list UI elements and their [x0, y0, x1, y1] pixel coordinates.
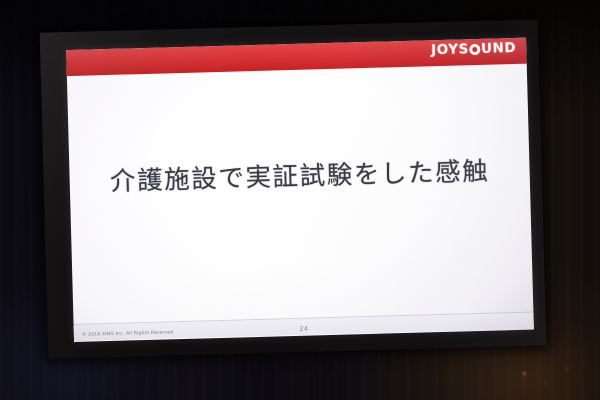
light-speck: [523, 372, 526, 375]
light-speck: [566, 368, 568, 370]
joysound-logo: JOYS UND: [431, 42, 517, 58]
logo-text-right: UND: [481, 42, 517, 56]
presentation-slide: JOYS UND 介護施設で実証試験をした感触 © 2018 XING Inc.…: [66, 38, 534, 342]
slide-headline: 介護施設で実証試験をした感触: [69, 150, 530, 199]
logo-text-left: JOYS: [431, 43, 469, 58]
projection-screen: JOYS UND 介護施設で実証試験をした感触 © 2018 XING Inc.…: [40, 19, 547, 358]
screenshot-root: JOYS UND 介護施設で実証試験をした感触 © 2018 XING Inc.…: [0, 0, 600, 400]
light-speck: [545, 382, 547, 384]
target-o-icon: [469, 44, 480, 55]
